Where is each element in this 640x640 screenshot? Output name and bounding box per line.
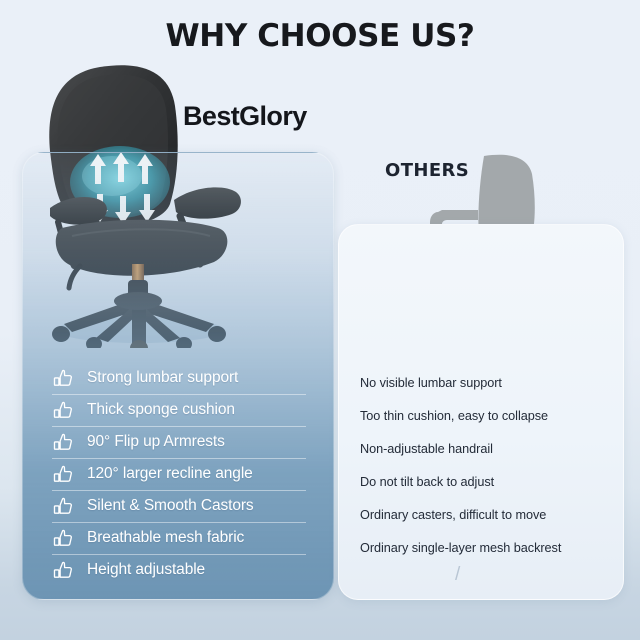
list-item: 90° Flip up Armrests [22,426,332,458]
list-item: Ordinary casters, difficult to move [360,498,622,531]
feature-label: Silent & Smooth Castors [87,497,254,515]
page-title: WHY CHOOSE US? [0,18,640,54]
list-item: Ordinary single-layer mesh backrest [360,531,622,564]
drawback-label: Ordinary single-layer mesh backrest [360,541,561,555]
thumbs-up-icon [52,431,75,454]
feature-label: Breathable mesh fabric [87,529,244,547]
thumbs-up-icon [52,495,75,518]
feature-label: 90° Flip up Armrests [87,433,225,451]
others-heading: OTHERS [385,160,469,181]
thumbs-up-icon [52,399,75,422]
list-item: Height adjustable [22,554,332,586]
list-item: Do not tilt back to adjust [360,465,622,498]
thumbs-up-icon [52,367,75,390]
feature-label: Strong lumbar support [87,369,238,387]
drawback-list: No visible lumbar support Too thin cushi… [360,366,622,564]
feature-list: Strong lumbar support Thick sponge cushi… [22,362,332,586]
list-item: No visible lumbar support [360,366,622,399]
list-item: Too thin cushion, easy to collapse [360,399,622,432]
thumbs-up-icon [52,559,75,582]
infographic-canvas: WHY CHOOSE US? [0,0,640,640]
list-item: Silent & Smooth Castors [22,490,332,522]
thumbs-up-icon [52,463,75,486]
feature-label: 120° larger recline angle [87,465,253,483]
drawback-label: Non-adjustable handrail [360,442,493,456]
feature-label: Height adjustable [87,561,205,579]
list-item: Non-adjustable handrail [360,432,622,465]
drawback-label: Too thin cushion, easy to collapse [360,409,548,423]
drawback-label: No visible lumbar support [360,376,502,390]
list-item: 120° larger recline angle [22,458,332,490]
drawback-label: Ordinary casters, difficult to move [360,508,546,522]
list-item: Strong lumbar support [22,362,332,394]
feature-label: Thick sponge cushion [87,401,235,419]
drawback-label: Do not tilt back to adjust [360,475,494,489]
list-item: Thick sponge cushion [22,394,332,426]
thumbs-up-icon [52,527,75,550]
list-item: Breathable mesh fabric [22,522,332,554]
brand-name: BestGlory [183,101,307,132]
slash-mark: / [455,564,460,586]
